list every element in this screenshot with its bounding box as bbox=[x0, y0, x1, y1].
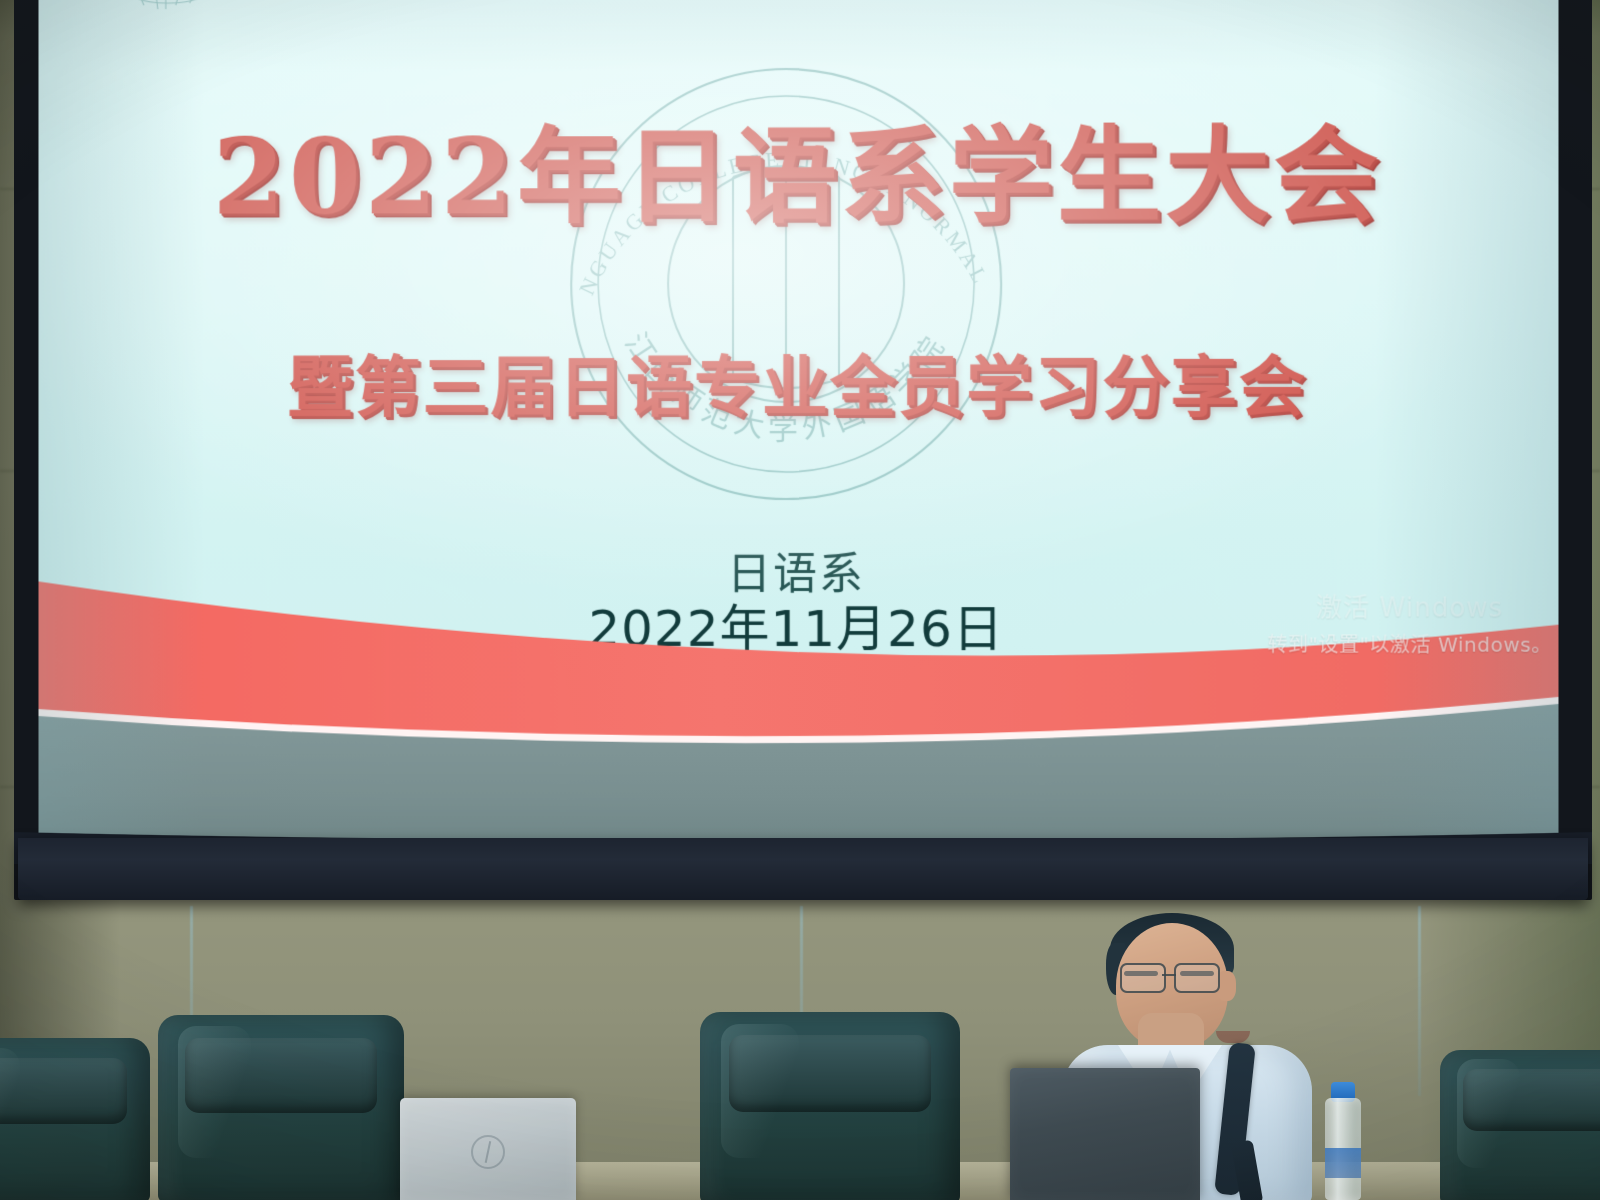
chair-highlight bbox=[721, 1024, 799, 1158]
corner-logo-mark bbox=[108, 0, 227, 41]
presentation-slide: FOREIGN LANGUAGE COLLEGE JIANGXI NORMAL … bbox=[39, 0, 1559, 861]
chair-highlight bbox=[0, 1048, 20, 1164]
laptop-hp[interactable] bbox=[400, 1098, 576, 1200]
conference-chair[interactable] bbox=[700, 1012, 960, 1200]
conference-chair[interactable] bbox=[1440, 1050, 1600, 1200]
screen-frame-bottom-bar bbox=[18, 838, 1588, 900]
screenshot-root: FOREIGN LANGUAGE COLLEGE JIANGXI NORMAL … bbox=[0, 0, 1600, 1200]
slide-subtitle: 暨第三届日语专业全员学习分享会 bbox=[39, 334, 1559, 430]
glasses-lens-left bbox=[1120, 963, 1166, 993]
chair-highlight bbox=[178, 1026, 252, 1158]
slide-title: 2022年日语系学生大会 bbox=[39, 121, 1559, 233]
conference-chair[interactable] bbox=[0, 1038, 150, 1200]
hp-logo-icon bbox=[471, 1135, 505, 1169]
bottle-label bbox=[1325, 1148, 1361, 1178]
glasses-icon bbox=[1118, 963, 1230, 991]
glasses-bridge bbox=[1162, 974, 1176, 976]
wall-seam-vertical bbox=[1418, 906, 1421, 1096]
projection-screen: FOREIGN LANGUAGE COLLEGE JIANGXI NORMAL … bbox=[14, 0, 1592, 900]
conference-chair[interactable] bbox=[158, 1015, 404, 1200]
slide-date: 2022年11月26日 bbox=[39, 588, 1559, 661]
laptop-dark[interactable] bbox=[1010, 1068, 1200, 1200]
glasses-lens-right bbox=[1174, 963, 1220, 993]
chair-highlight bbox=[1457, 1059, 1520, 1168]
person-mouth bbox=[1216, 1031, 1250, 1043]
